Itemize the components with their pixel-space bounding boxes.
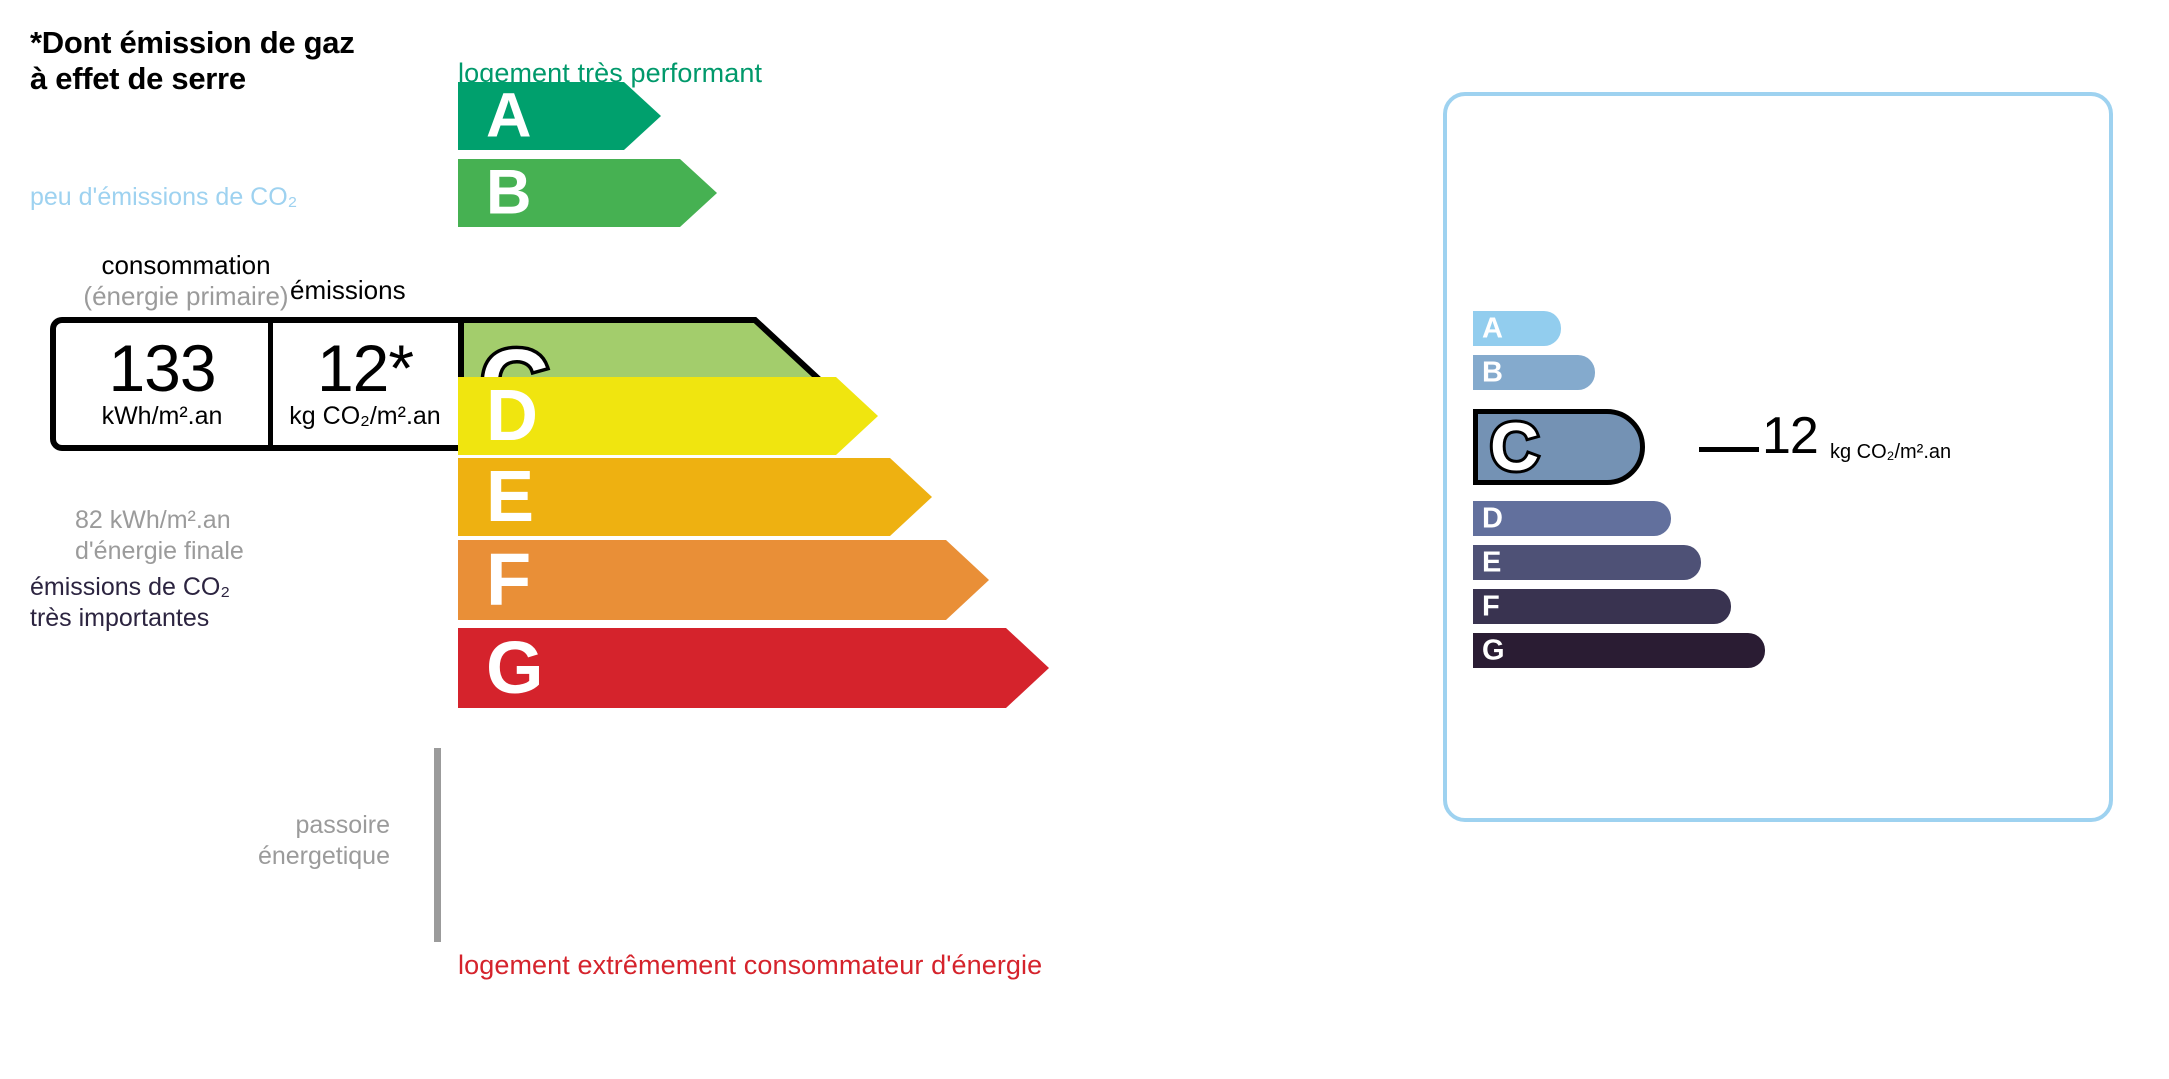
arrow-shape-g: G (458, 628, 1049, 708)
final-energy-note: 82 kWh/m².an d'énergie finale (75, 505, 244, 568)
co2-bottom-line1: émissions de CO₂ (30, 572, 230, 603)
co2-class-bar-d: D (1473, 501, 1671, 536)
energy-class-arrow-g: G (458, 628, 1049, 708)
co2-bar-letter-g: G (1482, 636, 1505, 665)
co2-bar-letter-d: D (1482, 504, 1503, 533)
arrow-shape-d: D (458, 377, 878, 455)
co2-bar-fill-c: C (1473, 409, 1645, 485)
consumption-label: consommation (énergie primaire) (66, 250, 306, 311)
co2-bar-letter-a: A (1482, 314, 1503, 343)
arrow-shape-b: B (458, 159, 717, 227)
energy-class-arrow-e: E (458, 458, 932, 536)
co2-panel-title: *Dont émission de gaz à effet de serre (30, 25, 354, 97)
energy-sieve-line1: passoire (190, 810, 390, 841)
final-energy-line1: 82 kWh/m².an (75, 505, 244, 536)
co2-class-bar-c: C (1473, 409, 1645, 485)
co2-bar-fill-g: G (1473, 633, 1765, 668)
emissions-value: 12* (317, 337, 413, 400)
energy-class-arrow-b: B (458, 159, 717, 227)
co2-bar-letter-b: B (1482, 358, 1503, 387)
co2-class-bar-f: F (1473, 589, 1731, 624)
primary-energy-value: 133 (108, 337, 215, 400)
co2-bottom-line2: très importantes (30, 603, 230, 634)
arrow-shape-f: F (458, 540, 989, 620)
emissions-label: émissions (290, 275, 406, 306)
co2-bar-fill-a: A (1473, 311, 1561, 346)
energy-class-arrow-a: A (458, 82, 661, 150)
consumption-label-main: consommation (101, 250, 270, 280)
primary-energy-cell: 133 kWh/m².an (56, 323, 268, 445)
emissions-value-cell: 12* kg CO₂/m².an (268, 323, 457, 445)
energy-class-arrow-d: D (458, 377, 878, 455)
primary-energy-unit: kWh/m².an (102, 402, 223, 431)
energy-sieve-bracket (434, 748, 441, 942)
co2-class-bar-a: A (1473, 311, 1561, 346)
energy-sieve-label: passoire énergetique (190, 810, 390, 873)
arrow-shape-e: E (458, 458, 932, 536)
co2-top-caption: peu d'émissions de CO₂ (30, 183, 297, 212)
co2-class-bar-b: B (1473, 355, 1595, 390)
co2-title-line2: à effet de serre (30, 61, 354, 97)
co2-bar-fill-d: D (1473, 501, 1671, 536)
dpe-diagram: logement très performant ABCDEFG logemen… (0, 0, 2169, 1079)
co2-bar-fill-f: F (1473, 589, 1731, 624)
co2-bottom-caption: émissions de CO₂ très importantes (30, 572, 230, 633)
final-energy-line2: d'énergie finale (75, 536, 244, 567)
energy-scale-bottom-caption: logement extrêmement consommateur d'éner… (458, 950, 1042, 981)
co2-leader-line (1699, 447, 1759, 452)
co2-title-line1: *Dont émission de gaz (30, 25, 354, 61)
arrow-shape-a: A (458, 82, 661, 150)
consumption-value-box: 133 kWh/m².an 12* kg CO₂/m².an (50, 317, 458, 451)
co2-bar-letter-f: F (1482, 592, 1500, 621)
co2-bar-letter-c: C (1490, 413, 1539, 481)
energy-sieve-line2: énergetique (190, 841, 390, 872)
energy-class-arrow-f: F (458, 540, 989, 620)
co2-bar-fill-e: E (1473, 545, 1701, 580)
co2-value: 12 (1762, 410, 1818, 462)
emissions-unit: kg CO₂/m².an (289, 402, 440, 431)
consumption-label-sub: (énergie primaire) (66, 281, 306, 312)
co2-value-unit: kg CO₂/m².an (1830, 441, 1951, 464)
co2-class-bar-g: G (1473, 633, 1765, 668)
co2-class-bar-e: E (1473, 545, 1701, 580)
co2-bar-fill-b: B (1473, 355, 1595, 390)
co2-bar-letter-e: E (1482, 548, 1501, 577)
